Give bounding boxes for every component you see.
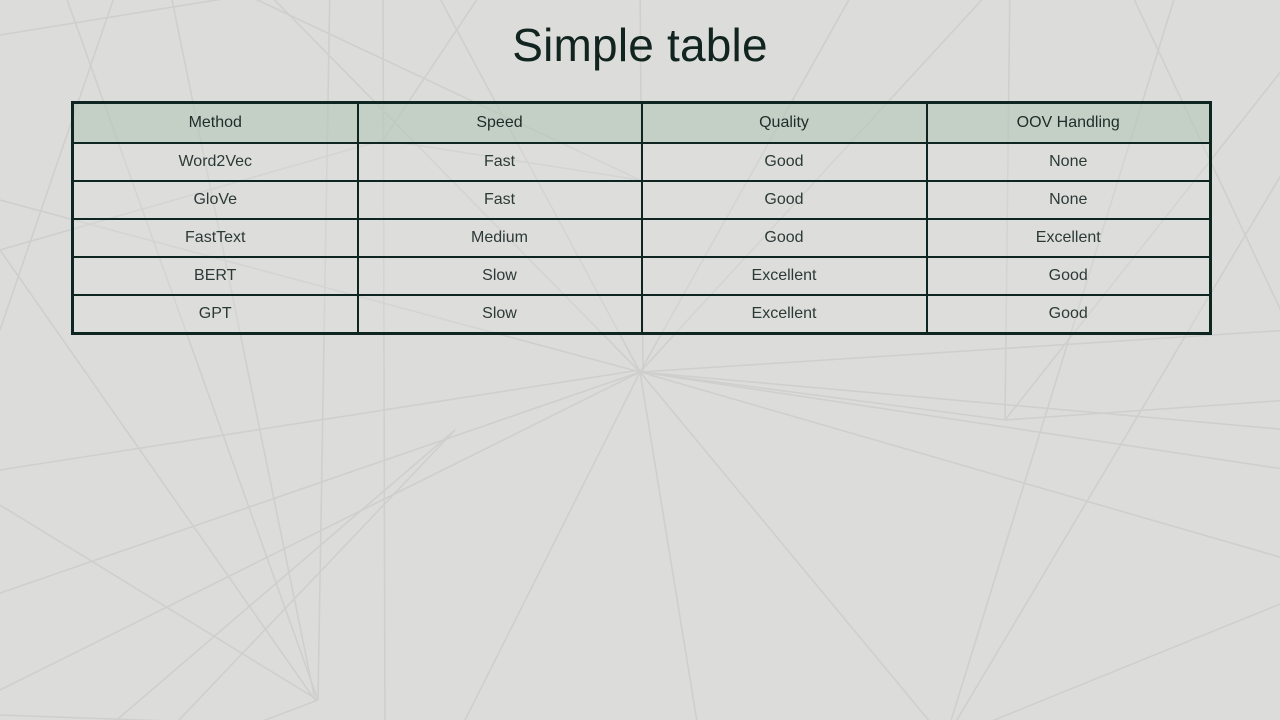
table-header: Method Speed Quality OOV Handling — [73, 103, 1211, 144]
cell-method: BERT — [73, 257, 358, 295]
cell-oov: None — [927, 143, 1211, 181]
column-header-speed[interactable]: Speed — [358, 103, 642, 144]
table-header-row: Method Speed Quality OOV Handling — [73, 103, 1211, 144]
page-title: Simple table — [0, 22, 1280, 68]
cell-oov: None — [927, 181, 1211, 219]
cell-quality: Good — [642, 181, 927, 219]
table-row: Word2Vec Fast Good None — [73, 143, 1211, 181]
column-header-method[interactable]: Method — [73, 103, 358, 144]
cell-oov: Good — [927, 257, 1211, 295]
cell-speed: Fast — [358, 181, 642, 219]
column-header-quality[interactable]: Quality — [642, 103, 927, 144]
column-header-oov[interactable]: OOV Handling — [927, 103, 1211, 144]
slide-canvas: Simple table Method Speed Quality OOV Ha… — [0, 0, 1280, 720]
cell-oov: Good — [927, 295, 1211, 334]
comparison-table: Method Speed Quality OOV Handling Word2V… — [71, 101, 1212, 335]
cell-speed: Fast — [358, 143, 642, 181]
table-row: GloVe Fast Good None — [73, 181, 1211, 219]
cell-method: GPT — [73, 295, 358, 334]
table-container: Method Speed Quality OOV Handling Word2V… — [71, 101, 1209, 335]
cell-method: FastText — [73, 219, 358, 257]
cell-method: Word2Vec — [73, 143, 358, 181]
cell-speed: Slow — [358, 257, 642, 295]
cell-quality: Excellent — [642, 295, 927, 334]
table-row: FastText Medium Good Excellent — [73, 219, 1211, 257]
cell-speed: Slow — [358, 295, 642, 334]
cell-oov: Excellent — [927, 219, 1211, 257]
cell-quality: Excellent — [642, 257, 927, 295]
table-body: Word2Vec Fast Good None GloVe Fast Good … — [73, 143, 1211, 334]
cell-quality: Good — [642, 219, 927, 257]
table-row: GPT Slow Excellent Good — [73, 295, 1211, 334]
cell-method: GloVe — [73, 181, 358, 219]
table-row: BERT Slow Excellent Good — [73, 257, 1211, 295]
cell-speed: Medium — [358, 219, 642, 257]
cell-quality: Good — [642, 143, 927, 181]
